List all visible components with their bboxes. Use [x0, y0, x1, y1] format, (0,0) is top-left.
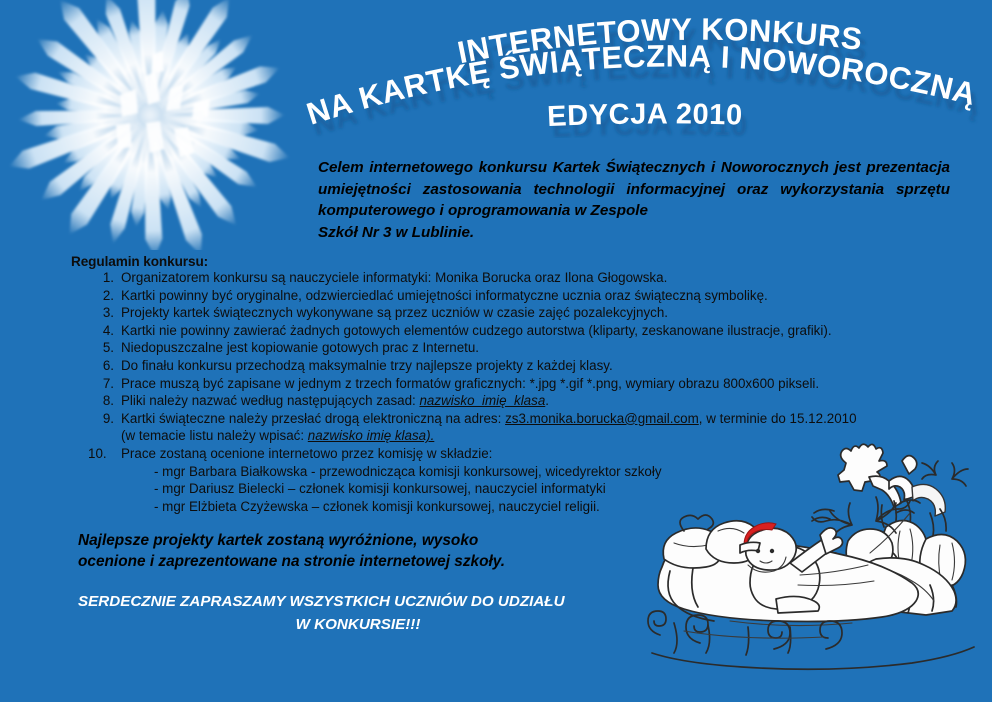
email-link[interactable]: zs3.monika.borucka@gmail.com: [505, 411, 699, 426]
rules-heading: Regulamin konkursu:: [71, 254, 208, 269]
rule-item-9-continuation: (w temacie listu należy wpisać: nazwisko…: [121, 427, 978, 445]
svg-text:INTERNETOWY KONKURS: INTERNETOWY KONKURS: [455, 12, 865, 71]
rule-number: 8.: [88, 392, 114, 410]
title-line2: NA KARTKĘ ŚWIĄTECZNĄ I NOWOROCZNĄ: [302, 38, 979, 131]
poster-canvas: INTERNETOWY KONKURS NA KARTKĘ ŚWIĄTECZNĄ…: [0, 0, 992, 702]
sleigh-reins: [798, 513, 910, 586]
rule-item-4: 4.Kartki nie powinny zawierać żadnych go…: [88, 322, 978, 340]
rule-text: Projekty kartek świątecznych wykonywane …: [121, 305, 668, 320]
rule-number: 5.: [88, 339, 114, 357]
rule-item-1: 1.Organizatorem konkursu są nauczyciele …: [88, 269, 978, 287]
rule-item-7: 7.Prace muszą być zapisane w jednym z tr…: [88, 375, 978, 393]
rule-item-9: 9.Kartki świąteczne należy przesłać drog…: [88, 410, 978, 445]
title-line3: EDYCJA 2010: [547, 98, 743, 133]
rule-item-6: 6.Do finału konkursu przechodzą maksymal…: [88, 357, 978, 375]
title-line2-shadow: NA KARTKĘ ŚWIĄTECZNĄ I NOWOROCZNĄ: [307, 49, 984, 138]
svg-text:EDYCJA 2010: EDYCJA 2010: [552, 109, 748, 138]
rule-item-5: 5.Niedopuszczalne jest kopiowanie gotowy…: [88, 339, 978, 357]
gift-bundles: [863, 520, 965, 592]
closing-line-1: Najlepsze projekty kartek zostaną wyróżn…: [78, 530, 505, 551]
rule-text-tail: , w terminie do 15.12.2010: [699, 411, 857, 426]
rule-item-10: 10.Prace zostaną ocenione internetowo pr…: [88, 445, 978, 515]
svg-text:NA KARTKĘ ŚWIĄTECZNĄ I NOWOROC: NA KARTKĘ ŚWIĄTECZNĄ I NOWOROCZNĄ: [302, 38, 979, 131]
rule-number: 1.: [88, 269, 114, 287]
rule-item-2: 2.Kartki powinny być oryginalne, odzwier…: [88, 287, 978, 305]
rule-number: 4.: [88, 322, 114, 340]
rule-item-3: 3.Projekty kartek świątecznych wykonywan…: [88, 304, 978, 322]
closing-invitation: SERDECZNIE ZAPRASZAMY WSZYSTKICH UCZNIÓW…: [78, 590, 638, 636]
rule-text: Prace muszą być zapisane w jednym z trze…: [121, 376, 819, 391]
continuation-text: (w temacie listu należy wpisać:: [121, 428, 308, 443]
closing-statement-highlight: Najlepsze projekty kartek zostaną wyróżn…: [78, 530, 505, 572]
rule-number: 3.: [88, 304, 114, 322]
rule-text: Kartki nie powinny zawierać żadnych goto…: [121, 323, 832, 338]
rule-text: Kartki powinny być oryginalne, odzwierci…: [121, 288, 768, 303]
rule-text-tail: .: [545, 393, 549, 408]
committee-member-2: - mgr Dariusz Bielecki – członek komisji…: [121, 480, 978, 498]
fireworks-graphic: [0, 0, 310, 250]
filename-format-emphasis: nazwisko_imię_klasa: [419, 393, 545, 408]
rule-number: 10.: [88, 445, 114, 463]
rule-number: 6.: [88, 357, 114, 375]
rule-item-8: 8. Pliki należy nazwać według następując…: [88, 392, 978, 410]
rule-text: Pliki należy nazwać według następujących…: [121, 393, 419, 408]
svg-text:NA KARTKĘ ŚWIĄTECZNĄ I NOWOROC: NA KARTKĘ ŚWIĄTECZNĄ I NOWOROCZNĄ: [307, 49, 984, 138]
committee-member-1: - mgr Barbara Białkowska - przewodnicząc…: [121, 463, 978, 481]
title-line1-shadow: INTERNETOWY KONKURS: [460, 23, 870, 82]
sleigh-body: [658, 515, 918, 626]
santa-figure: [740, 523, 843, 613]
rule-number: 7.: [88, 375, 114, 393]
rule-text: Do finału konkursu przechodzą maksymalni…: [121, 358, 613, 373]
rules-list: 1.Organizatorem konkursu są nauczyciele …: [88, 269, 978, 515]
closing-line-2: ocenione i zaprezentowane na stronie int…: [78, 551, 505, 572]
sleigh-runners: [648, 611, 974, 669]
rule-text: Kartki świąteczne należy przesłać drogą …: [121, 411, 505, 426]
svg-text:EDYCJA 2010: EDYCJA 2010: [547, 98, 743, 133]
svg-text:INTERNETOWY KONKURS: INTERNETOWY KONKURS: [460, 23, 870, 82]
intro-text-last-line: Szkół Nr 3 w Lublinie.: [318, 222, 950, 244]
intro-text: Celem internetowego konkursu Kartek Świą…: [318, 157, 950, 222]
invitation-line-2: W KONKURSIE!!!: [78, 613, 638, 636]
poster-title: INTERNETOWY KONKURS NA KARTKĘ ŚWIĄTECZNĄ…: [286, 0, 992, 138]
title-line1: INTERNETOWY KONKURS: [455, 12, 865, 71]
rule-number: 9.: [88, 410, 114, 428]
rule-number: 2.: [88, 287, 114, 305]
rule-text: Organizatorem konkursu są nauczyciele in…: [121, 270, 667, 285]
intro-paragraph: Celem internetowego konkursu Kartek Świą…: [318, 157, 950, 243]
invitation-line-1: SERDECZNIE ZAPRASZAMY WSZYSTKICH UCZNIÓW…: [78, 590, 638, 613]
rule-text: Niedopuszczalne jest kopiowanie gotowych…: [121, 340, 479, 355]
subject-format-emphasis: nazwisko imię klasa).: [308, 428, 435, 443]
title-line3-shadow: EDYCJA 2010: [552, 109, 748, 138]
rule-text: Prace zostaną ocenione internetowo przez…: [121, 446, 492, 461]
committee-member-3: - mgr Elżbieta Czyżewska – członek komis…: [121, 498, 978, 516]
